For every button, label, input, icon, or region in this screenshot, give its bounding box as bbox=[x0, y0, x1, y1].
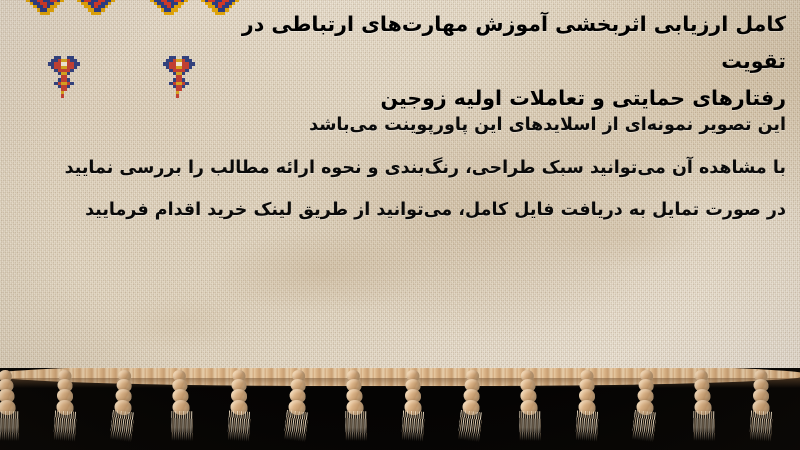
body-line-1: این تصویر نمونه‌ای از اسلایدهای این پاور… bbox=[14, 115, 786, 135]
tassel bbox=[282, 369, 312, 444]
tassel bbox=[630, 369, 660, 444]
tassel bbox=[166, 369, 196, 444]
tassel bbox=[514, 369, 544, 444]
tassel bbox=[0, 369, 22, 444]
knotted-tassel-fringe bbox=[0, 368, 800, 450]
slide-title: کامل ارزیابی اثربخشی آموزش مهارت‌های ارت… bbox=[194, 6, 786, 117]
tassel bbox=[748, 370, 774, 444]
slide-canvas: کامل ارزیابی اثربخشی آموزش مهارت‌های ارت… bbox=[0, 0, 800, 450]
tassel bbox=[340, 369, 370, 444]
body-line-2: با مشاهده آن می‌توانید سبک طراحی، رنگ‌بن… bbox=[14, 158, 786, 178]
tassel bbox=[226, 370, 252, 444]
tassel bbox=[688, 369, 718, 444]
tassel bbox=[108, 369, 138, 444]
tassel bbox=[574, 370, 600, 444]
tassel bbox=[400, 370, 426, 444]
tassel bbox=[52, 370, 78, 444]
tassel bbox=[456, 369, 486, 444]
slide-title-line-2: رفتارهای حمایتی و تعاملات اولیه زوجین bbox=[194, 80, 786, 117]
body-line-3: در صورت تمایل به دریافت فایل کامل، می‌تو… bbox=[14, 200, 786, 220]
slide-title-line-1: کامل ارزیابی اثربخشی آموزش مهارت‌های ارت… bbox=[194, 6, 786, 80]
